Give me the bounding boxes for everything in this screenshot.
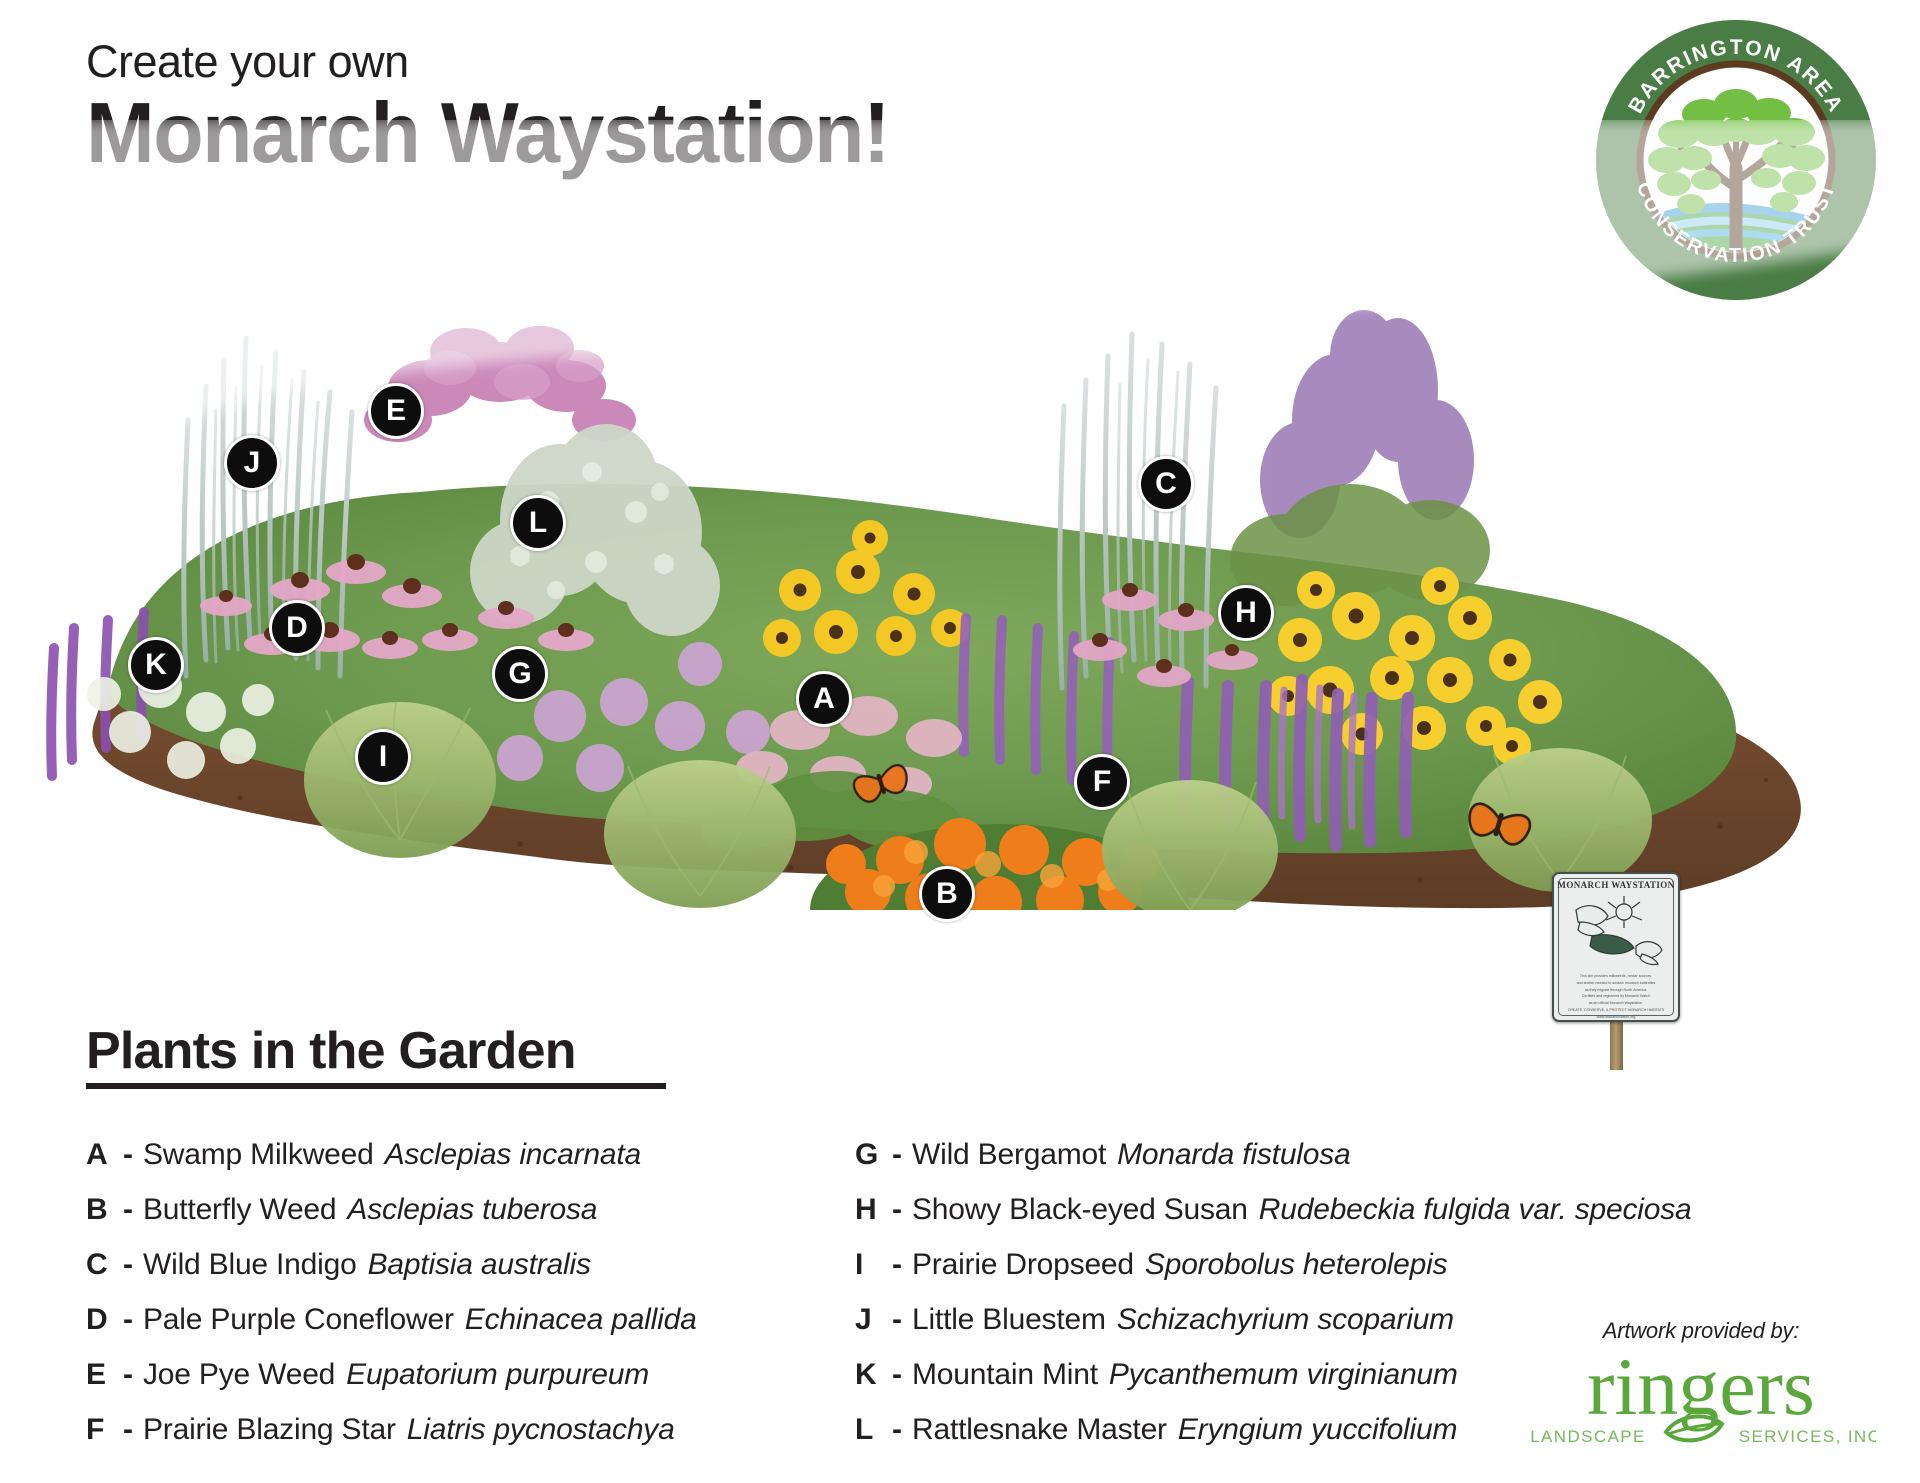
plant-latin-name: Asclepias tuberosa	[336, 1193, 597, 1227]
plant-latin-name: Schizachyrium scoparium	[1106, 1303, 1454, 1337]
plant-latin-name: Eryngium yuccifolium	[1167, 1413, 1457, 1447]
plant-marker-j[interactable]: J	[224, 435, 280, 491]
plant-latin-name: Eupatorium purpureum	[335, 1358, 649, 1392]
plant-latin-name: Asclepias incarnata	[374, 1138, 641, 1172]
plant-latin-name: Sporobolus heterolepis	[1134, 1248, 1447, 1282]
plant-list-item-b: B-Butterfly WeedAsclepias tuberosa	[86, 1193, 726, 1248]
plant-common-name: Prairie Blazing Star	[143, 1413, 396, 1447]
garden-illustration: MONARCH WAYSTATION This site provides mi…	[0, 120, 1920, 910]
plant-key-dash: -	[112, 1193, 143, 1227]
plant-key-letter: B	[86, 1193, 112, 1227]
ringers-tagline-left: LANDSCAPE	[1530, 1427, 1646, 1446]
plant-latin-name: Baptisia australis	[357, 1248, 591, 1282]
artwork-credit-label: Artwork provided by:	[1526, 1318, 1876, 1344]
plant-common-name: Butterfly Weed	[143, 1193, 336, 1227]
plant-key-dash: -	[881, 1303, 912, 1337]
plant-common-name: Wild Bergamot	[912, 1138, 1106, 1172]
plant-list-item-i: I-Prairie DropseedSporobolus heterolepis	[855, 1248, 1655, 1303]
plant-latin-name: Echinacea pallida	[454, 1303, 697, 1337]
monarch-waystation-sign: MONARCH WAYSTATION This site provides mi…	[1552, 872, 1680, 1022]
plant-key-letter: E	[86, 1358, 112, 1392]
plant-common-name: Mountain Mint	[912, 1358, 1098, 1392]
sign-body-line: as an official Monarch Waystation.	[1563, 1000, 1669, 1007]
plant-marker-i[interactable]: I	[355, 729, 411, 785]
plant-common-name: Prairie Dropseed	[912, 1248, 1134, 1282]
sign-butterfly-artwork	[1562, 892, 1674, 970]
sign-body-line: This site provides milkweeds, nectar sou…	[1563, 973, 1669, 980]
sign-body-text: This site provides milkweeds, nectar sou…	[1563, 973, 1669, 1021]
plant-list-item-g: G-Wild BergamotMonarda fistulosa	[855, 1138, 1655, 1193]
plant-list-item-h: H-Showy Black-eyed SusanRudebeckia fulgi…	[855, 1193, 1655, 1248]
plant-key-dash: -	[881, 1248, 912, 1282]
sign-body-line: as they migrate through North America.	[1563, 987, 1669, 994]
plant-key-dash: -	[112, 1413, 143, 1447]
plant-marker-e[interactable]: E	[368, 383, 424, 439]
sign-body-line: CREATE, CONSERVE, & PROTECT MONARCH HABI…	[1563, 1007, 1669, 1014]
plant-key-letter: G	[855, 1138, 881, 1172]
plant-key-letter: F	[86, 1413, 112, 1447]
plant-key-letter: C	[86, 1248, 112, 1282]
plant-key-letter: K	[855, 1358, 881, 1392]
plant-marker-b[interactable]: B	[919, 866, 975, 922]
plant-common-name: Pale Purple Coneflower	[143, 1303, 454, 1337]
plant-key-letter: A	[86, 1138, 112, 1172]
plant-list-item-e: E-Joe Pye WeedEupatorium purpureum	[86, 1358, 726, 1413]
plant-latin-name: Rudebeckia fulgida var. speciosa	[1248, 1193, 1692, 1227]
plant-list-item-f: F-Prairie Blazing StarLiatris pycnostach…	[86, 1413, 726, 1468]
sign-post	[1610, 1018, 1623, 1070]
plant-common-name: Rattlesnake Master	[912, 1413, 1167, 1447]
garden-artwork	[0, 120, 1920, 910]
header-eyebrow: Create your own	[86, 38, 1286, 85]
plant-marker-g[interactable]: G	[492, 646, 548, 702]
plant-marker-d[interactable]: D	[269, 600, 325, 656]
ringers-tagline-right: SERVICES, INC	[1739, 1427, 1876, 1446]
plant-key-dash: -	[881, 1358, 912, 1392]
plant-marker-k[interactable]: K	[128, 637, 184, 693]
plant-latin-name: Pycanthemum virginianum	[1098, 1358, 1458, 1392]
plant-list-item-d: D-Pale Purple ConeflowerEchinacea pallid…	[86, 1303, 726, 1358]
plant-marker-f[interactable]: F	[1074, 754, 1130, 810]
plant-list-item-a: A-Swamp MilkweedAsclepias incarnata	[86, 1138, 726, 1193]
ringers-landscape-services-logo: ringers LANDSCAPE SERVICES, INC	[1526, 1346, 1876, 1458]
plant-key-dash: -	[112, 1303, 143, 1337]
sign-body-line: www.MonarchWatch.org	[1563, 1014, 1669, 1021]
plant-list-heading: Plants in the Garden	[86, 1025, 666, 1077]
plant-key-dash: -	[112, 1358, 143, 1392]
plant-key-letter: J	[855, 1303, 881, 1337]
artwork-credit: Artwork provided by: ringers LANDSCAPE S…	[1526, 1318, 1876, 1458]
plant-common-name: Little Bluestem	[912, 1303, 1106, 1337]
plant-list-header: Plants in the Garden	[86, 1025, 666, 1089]
plant-list-left-column: A-Swamp MilkweedAsclepias incarnataB-But…	[86, 1138, 726, 1468]
sign-body-line: Certified and registered by Monarch Watc…	[1563, 993, 1669, 1000]
plant-marker-h[interactable]: H	[1218, 585, 1274, 641]
plant-list-heading-rule	[86, 1083, 666, 1089]
plant-marker-l[interactable]: L	[510, 495, 566, 551]
plant-marker-c[interactable]: C	[1138, 456, 1194, 512]
plant-common-name: Wild Blue Indigo	[143, 1248, 357, 1282]
plant-key-letter: H	[855, 1193, 881, 1227]
plant-latin-name: Liatris pycnostachya	[396, 1413, 675, 1447]
plant-latin-name: Monarda fistulosa	[1106, 1138, 1350, 1172]
plant-common-name: Joe Pye Weed	[143, 1358, 335, 1392]
sign-body-line: and shelter needed to sustain monarch bu…	[1563, 980, 1669, 987]
plant-key-dash: -	[881, 1413, 912, 1447]
ringers-wordmark: ringers	[1587, 1346, 1815, 1432]
plant-key-letter: I	[855, 1248, 881, 1282]
sign-title: MONARCH WAYSTATION	[1554, 880, 1678, 890]
plant-list-item-c: C-Wild Blue IndigoBaptisia australis	[86, 1248, 726, 1303]
plant-key-dash: -	[112, 1138, 143, 1172]
sign-plate: MONARCH WAYSTATION This site provides mi…	[1552, 872, 1680, 1022]
plant-common-name: Swamp Milkweed	[143, 1138, 374, 1172]
plant-key-letter: D	[86, 1303, 112, 1337]
plant-key-dash: -	[881, 1138, 912, 1172]
plant-key-letter: L	[855, 1413, 881, 1447]
plant-key-dash: -	[881, 1193, 912, 1227]
plant-common-name: Showy Black-eyed Susan	[912, 1193, 1248, 1227]
plant-key-dash: -	[112, 1248, 143, 1282]
plant-marker-a[interactable]: A	[796, 671, 852, 727]
